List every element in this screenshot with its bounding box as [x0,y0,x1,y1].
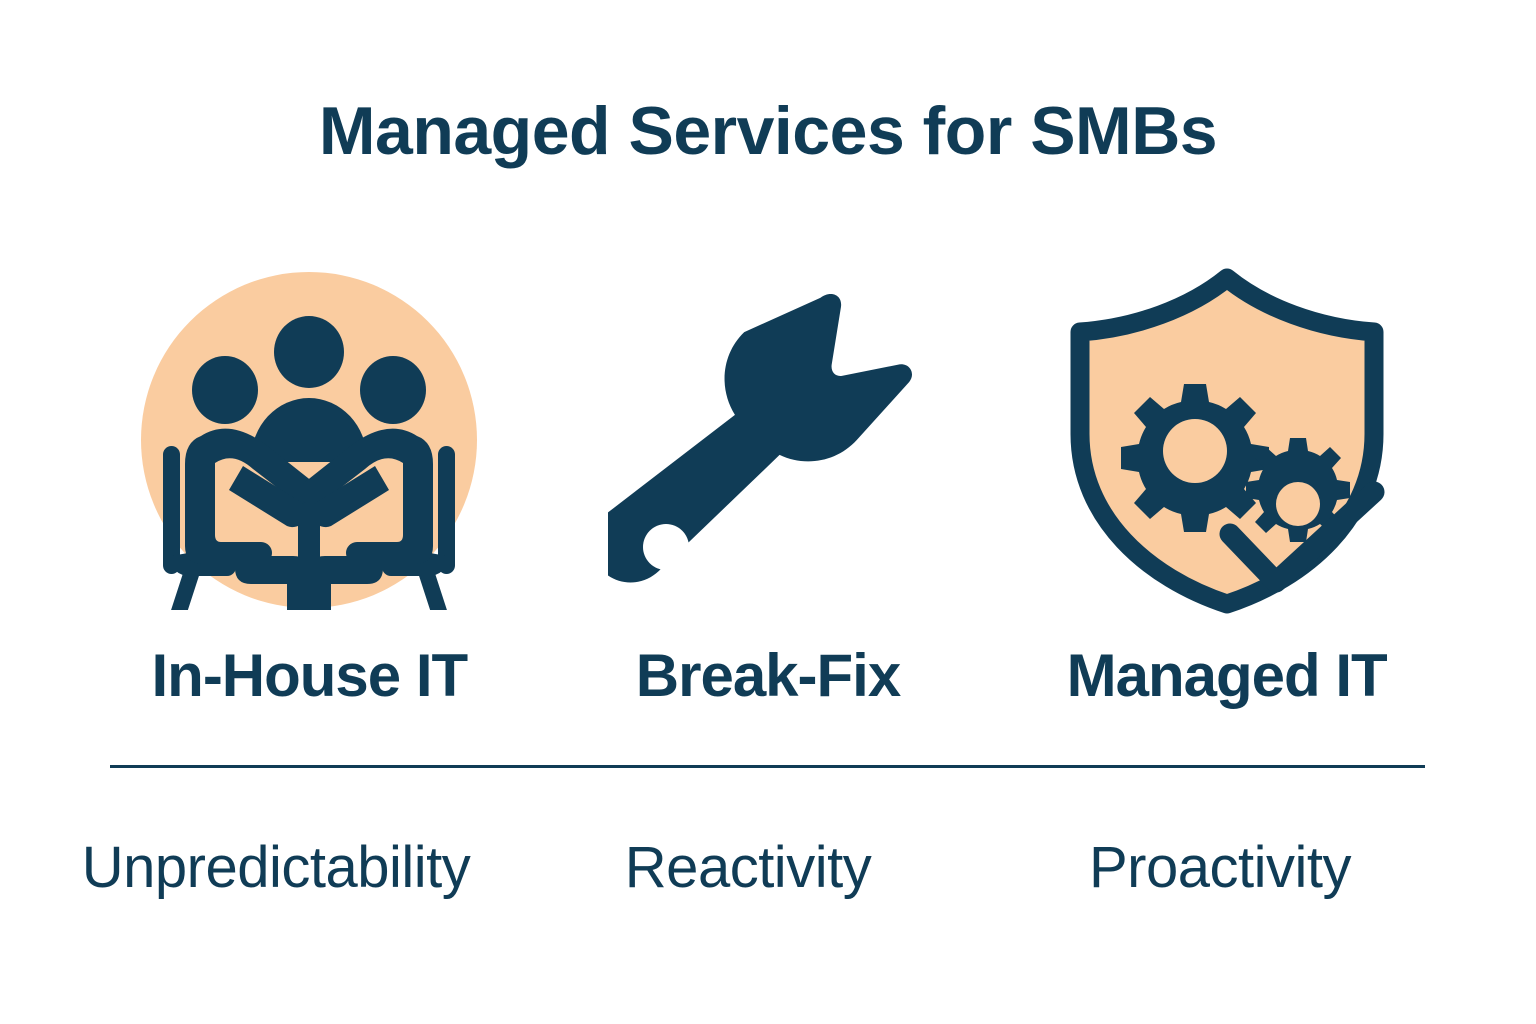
label-in-house-it: In-House IT [80,646,539,706]
column-icon-managed-it [998,260,1456,620]
column-icon-in-house-it [80,260,538,620]
descriptor-unpredictability: Unpredictability [40,839,512,897]
descriptor-proactivity: Proactivity [984,839,1456,897]
shield-gears-check-icon [1062,266,1392,614]
people-meeting-icon [139,270,479,610]
column-icon-break-fix [539,260,997,620]
icon-row [80,250,1456,620]
gear-large-icon [1121,384,1269,532]
infographic-canvas: Managed Services for SMBs [0,0,1536,1024]
wrench-icon [608,275,928,605]
page-title: Managed Services for SMBs [0,96,1536,167]
label-row: In-House IT Break-Fix Managed IT [80,628,1456,724]
label-break-fix: Break-Fix [539,646,998,706]
horizontal-divider [110,765,1425,768]
descriptor-row: Unpredictability Reactivity Proactivity [40,818,1456,918]
label-managed-it: Managed IT [997,646,1456,706]
descriptor-reactivity: Reactivity [512,839,984,897]
